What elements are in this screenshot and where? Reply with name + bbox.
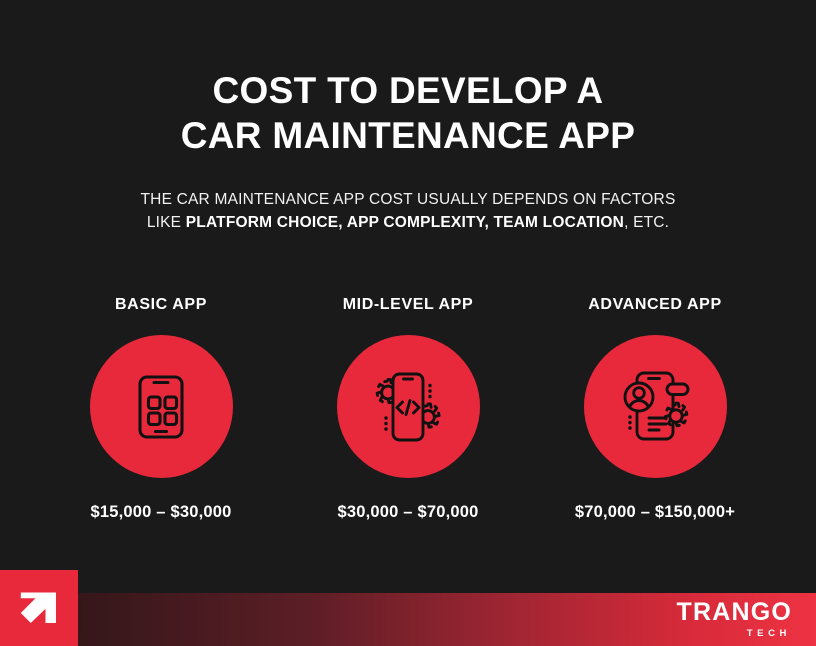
subtitle: THE CAR MAINTENANCE APP COST USUALLY DEP…	[0, 188, 816, 234]
tier-price: $70,000 – $150,000+	[575, 503, 735, 522]
page-title: COST TO DEVELOP A CAR MAINTENANCE APP	[0, 68, 816, 158]
phone-user-gear-icon	[613, 366, 697, 448]
cost-tier-columns: BASIC APP $15,000 – $30,000	[38, 296, 778, 522]
brand-subtitle: TECH	[676, 629, 791, 639]
icon-badge-mid-level	[337, 335, 480, 478]
infographic-canvas: COST TO DEVELOP A CAR MAINTENANCE APP TH…	[0, 0, 816, 646]
brand-wordmark: TRANGO TECH	[676, 600, 792, 639]
brand-name: TRANGO	[676, 600, 792, 625]
tier-price: $30,000 – $70,000	[337, 503, 478, 522]
phone-code-gears-icon	[366, 367, 450, 447]
cost-tier-basic: BASIC APP $15,000 – $30,000	[38, 296, 284, 522]
brand-logo-mark	[0, 570, 78, 646]
subtitle-text-1: THE CAR MAINTENANCE APP COST USUALLY DEP…	[141, 191, 676, 208]
subtitle-line-1: THE CAR MAINTENANCE APP COST USUALLY DEP…	[0, 188, 816, 211]
title-line-2: CAR MAINTENANCE APP	[0, 113, 816, 158]
title-line-1: COST TO DEVELOP A	[0, 68, 816, 113]
trango-arrow-logo	[14, 583, 64, 633]
tier-heading: BASIC APP	[115, 296, 207, 314]
icon-badge-advanced	[584, 335, 727, 478]
phone-app-grid-icon	[123, 369, 199, 445]
subtitle-factors: PLATFORM CHOICE, APP COMPLEXITY, TEAM LO…	[186, 214, 624, 231]
subtitle-suffix: , ETC.	[624, 214, 669, 231]
cost-tier-mid-level: MID-LEVEL APP	[285, 296, 531, 522]
cost-tier-advanced: ADVANCED APP	[532, 296, 778, 522]
tier-heading: MID-LEVEL APP	[343, 296, 473, 314]
tier-heading: ADVANCED APP	[588, 296, 721, 314]
tier-price: $15,000 – $30,000	[90, 503, 231, 522]
subtitle-line-2: LIKE PLATFORM CHOICE, APP COMPLEXITY, TE…	[0, 211, 816, 234]
icon-badge-basic	[90, 335, 233, 478]
subtitle-prefix: LIKE	[147, 214, 186, 231]
